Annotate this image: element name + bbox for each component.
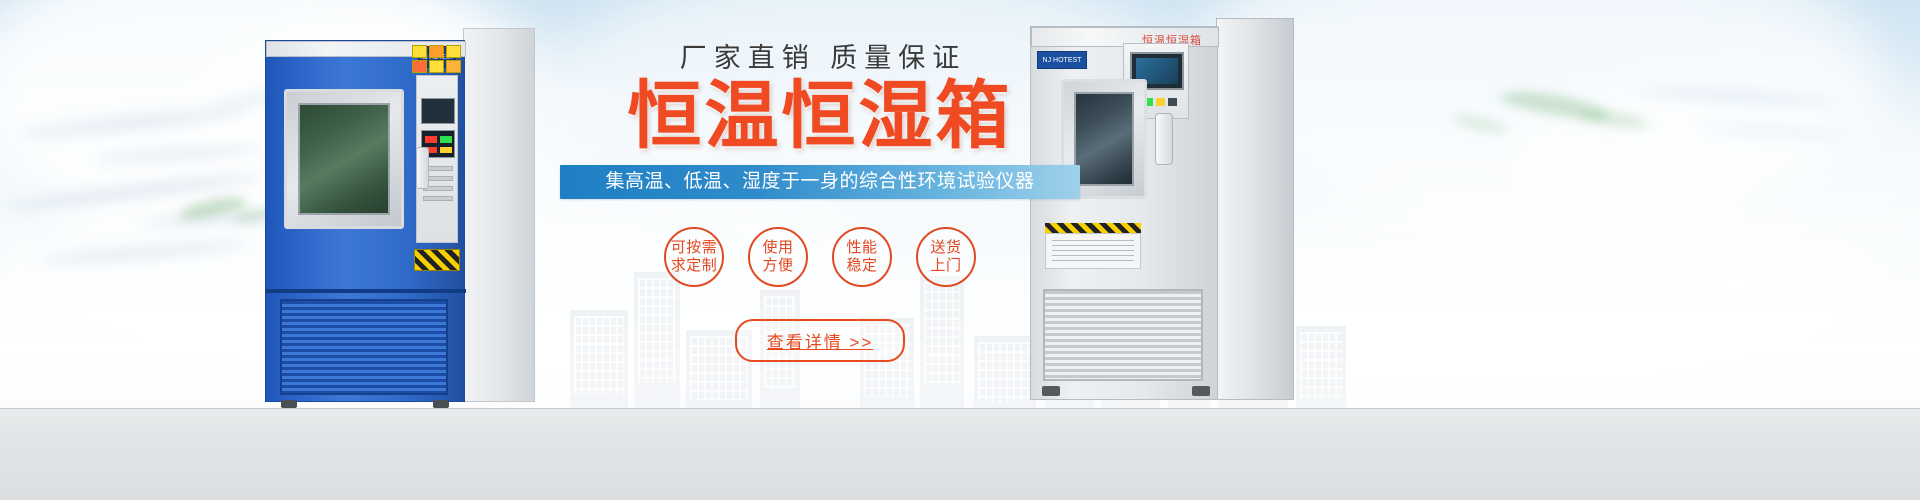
view-details-button[interactable]: 查看详情 >> [735, 319, 906, 362]
feature-badge-easy-to-use: 使用 方便 [748, 227, 808, 287]
sky-streak [1640, 85, 1840, 108]
machine-left-feet [281, 400, 451, 408]
feature-badge-stable-line1: 性能 [846, 239, 877, 257]
machine-left-warning-stickers [412, 45, 462, 75]
feature-badge-easy-to-use-line2: 方便 [762, 257, 793, 275]
feature-badge-stable: 性能 稳定 [832, 227, 892, 287]
leaf-wisp [1499, 86, 1611, 125]
machine-left-door-handle [416, 147, 429, 189]
machine-left-hazard-label [414, 249, 460, 271]
machine-right-view-window [1074, 92, 1134, 186]
machine-left-door [284, 89, 404, 229]
machine-left-side-cabinet [463, 28, 535, 402]
sky-streak [20, 106, 250, 140]
machine-left-divider [266, 289, 466, 293]
machine-left-vent-grille [280, 299, 448, 395]
machine-right-door-handle [1155, 113, 1173, 165]
feature-badge-delivery-line1: 送货 [930, 239, 961, 257]
leaf-wisp [1451, 112, 1508, 135]
feature-badge-easy-to-use-line1: 使用 [762, 239, 793, 257]
sky-streak [6, 170, 265, 213]
cta-row: 查看详情 >> [560, 319, 1080, 362]
feature-badge-delivery-line2: 上门 [930, 257, 961, 275]
sky-streak [1700, 124, 1850, 139]
machine-left-view-window [298, 103, 390, 215]
ground-strip [0, 408, 1920, 500]
cloud-shape [1500, 60, 1920, 300]
sky-streak [95, 144, 265, 164]
feature-badge-custom-line2: 求定制 [671, 257, 718, 275]
machine-right-feet [1042, 386, 1210, 396]
machine-left-body: NJ HOTEST [265, 40, 465, 402]
promo-banner: NJ HOTEST [0, 0, 1920, 500]
feature-badge-custom: 可按需 求定制 [664, 227, 724, 287]
feature-badge-list: 可按需 求定制 使用 方便 性能 稳定 送货 上门 [560, 227, 1080, 287]
product-image-left-machine: NJ HOTEST [265, 28, 535, 402]
banner-copy-block: 厂家直销 质量保证 恒温恒湿箱 集高温、低温、湿度于一身的综合性环境试验仪器 可… [560, 44, 1080, 362]
feature-badge-delivery: 送货 上门 [916, 227, 976, 287]
machine-right-side-cabinet [1216, 18, 1294, 400]
feature-badge-custom-line1: 可按需 [671, 239, 718, 257]
feature-badge-stable-line2: 稳定 [846, 257, 877, 275]
banner-eyebrow-text: 厂家直销 质量保证 [566, 44, 1080, 74]
leaf-wisp [177, 193, 249, 223]
machine-left-display-screen [421, 98, 455, 124]
banner-headline: 恒温恒湿箱 [560, 78, 1080, 153]
sky-streak [40, 239, 250, 266]
leaf-wisp [1577, 107, 1648, 131]
banner-subtitle-bar: 集高温、低温、湿度于一身的综合性环境试验仪器 [560, 165, 1080, 199]
